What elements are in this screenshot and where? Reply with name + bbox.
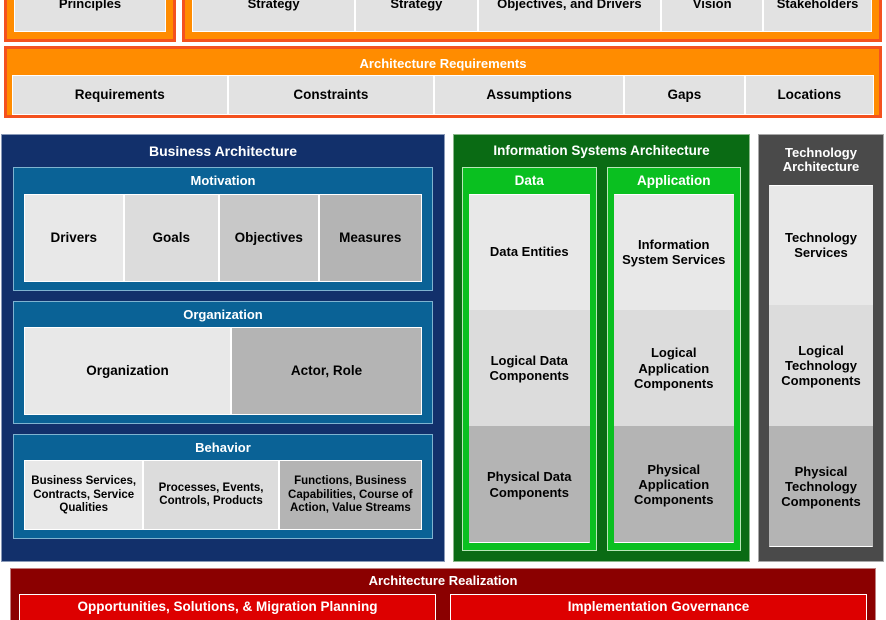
application-cell-stack: Information System Services Logical Appl… (614, 194, 735, 543)
architecture-requirements-panel: Architecture Requirements Requirements C… (4, 46, 882, 118)
togaf-content-metamodel-diagram: Principles Strategy Strategy Objectives,… (0, 0, 886, 620)
application-column: Application Information System Services … (607, 167, 742, 551)
motivation-section: Motivation Drivers Goals Objectives Meas… (13, 167, 433, 290)
isa-columns: Data Data Entities Logical Data Componen… (462, 167, 741, 551)
business-architecture-panel: Business Architecture Motivation Drivers… (1, 134, 445, 562)
motivation-cell-row: Drivers Goals Objectives Measures (24, 194, 422, 282)
cell-principles[interactable]: Principles (14, 0, 166, 32)
cell-organization[interactable]: Organization (24, 327, 231, 415)
strategy-cell-row: Strategy Strategy Objectives, and Driver… (192, 0, 872, 32)
cell-logical-data-components[interactable]: Logical Data Components (469, 310, 590, 426)
technology-architecture-title: Technology Architecture (769, 135, 873, 185)
cell-technology-services[interactable]: Technology Services (769, 185, 873, 306)
cell-architecture-vision[interactable]: Vision (661, 0, 763, 32)
behavior-section: Behavior Business Services, Contracts, S… (13, 434, 433, 539)
cell-logical-application-components[interactable]: Logical Application Components (614, 310, 735, 426)
cell-implementation-governance[interactable]: Implementation Governance (450, 594, 867, 620)
cell-objectives[interactable]: Objectives (219, 194, 319, 282)
data-cell-stack: Data Entities Logical Data Components Ph… (469, 194, 590, 543)
cell-functions-business-capabilities-course-of-action-value-streams[interactable]: Functions, Business Capabilities, Course… (279, 460, 422, 530)
cell-opportunities-solutions-migration-planning[interactable]: Opportunities, Solutions, & Migration Pl… (19, 594, 436, 620)
application-column-title: Application (614, 168, 735, 194)
cell-business-services-contracts-service-qualities[interactable]: Business Services, Contracts, Service Qu… (24, 460, 143, 530)
architecture-inputs-band: Principles Strategy Strategy Objectives,… (0, 0, 886, 118)
cell-goals[interactable]: Goals (124, 194, 220, 282)
cell-objectives-and-drivers[interactable]: Objectives, and Drivers (478, 0, 662, 32)
cell-technology-strategy[interactable]: Strategy (355, 0, 477, 32)
cell-logical-technology-components[interactable]: Logical Technology Components (769, 305, 873, 426)
data-column: Data Data Entities Logical Data Componen… (462, 167, 597, 551)
cell-physical-application-components[interactable]: Physical Application Components (614, 426, 735, 542)
architecture-realization-panel: Architecture Realization Opportunities, … (10, 568, 876, 620)
cell-drivers[interactable]: Drivers (24, 194, 124, 282)
cell-gaps[interactable]: Gaps (624, 75, 745, 115)
cell-assumptions[interactable]: Assumptions (434, 75, 624, 115)
behavior-title: Behavior (24, 435, 422, 460)
cell-requirements[interactable]: Requirements (12, 75, 228, 115)
architecture-principles-panel: Principles (4, 0, 176, 42)
realization-columns: Opportunities, Solutions, & Migration Pl… (19, 594, 867, 620)
organization-section: Organization Organization Actor, Role (13, 301, 433, 424)
behavior-cell-row: Business Services, Contracts, Service Qu… (24, 460, 422, 530)
motivation-title: Motivation (24, 168, 422, 193)
cell-constraints[interactable]: Constraints (228, 75, 435, 115)
technology-cell-stack: Technology Services Logical Technology C… (769, 185, 873, 547)
organization-title: Organization (24, 302, 422, 327)
cell-actor-role[interactable]: Actor, Role (231, 327, 422, 415)
requirements-cell-row: Requirements Constraints Assumptions Gap… (12, 75, 874, 115)
cell-information-system-services[interactable]: Information System Services (614, 194, 735, 310)
architecture-domains-row: Business Architecture Motivation Drivers… (0, 130, 886, 562)
cell-locations[interactable]: Locations (745, 75, 874, 115)
cell-measures[interactable]: Measures (319, 194, 422, 282)
organization-cell-row: Organization Actor, Role (24, 327, 422, 415)
principles-cell-row: Principles (14, 0, 166, 32)
cell-physical-data-components[interactable]: Physical Data Components (469, 426, 590, 542)
architecture-requirements-title: Architecture Requirements (12, 54, 874, 75)
cell-data-entities[interactable]: Data Entities (469, 194, 590, 310)
technology-architecture-panel: Technology Architecture Technology Servi… (758, 134, 884, 562)
architecture-realization-title: Architecture Realization (19, 569, 867, 594)
architecture-strategy-panel: Strategy Strategy Objectives, and Driver… (182, 0, 882, 42)
information-systems-architecture-title: Information Systems Architecture (462, 135, 741, 167)
data-column-title: Data (469, 168, 590, 194)
business-architecture-title: Business Architecture (13, 135, 433, 167)
cell-processes-events-controls-products[interactable]: Processes, Events, Controls, Products (143, 460, 278, 530)
information-systems-architecture-panel: Information Systems Architecture Data Da… (453, 134, 750, 562)
cell-physical-technology-components[interactable]: Physical Technology Components (769, 426, 873, 547)
cell-business-strategy[interactable]: Strategy (192, 0, 355, 32)
cell-stakeholders[interactable]: Stakeholders (763, 0, 872, 32)
